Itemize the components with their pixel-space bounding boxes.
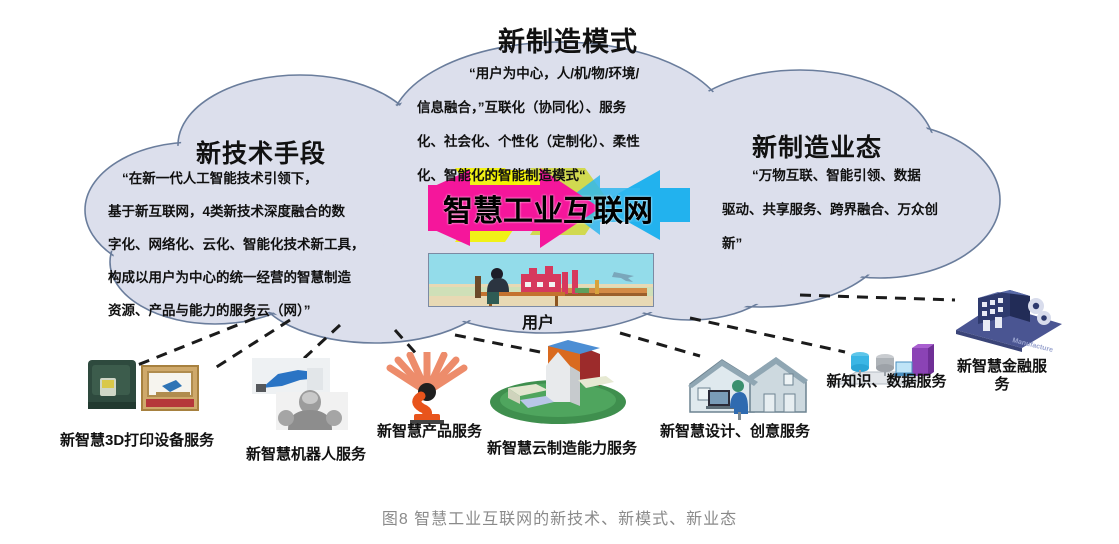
cloud-line: 基于新互联网，4类新技术深度融合的数 [108, 198, 424, 225]
cloud-line: 资源、产品与能力的服务云（网）” [108, 297, 424, 324]
cloud-body-new-manufacturing-mode: “用户为中心，人/机/物/环境/ 信息融合，”互联化（协同化）、服务 化、社会化… [417, 60, 717, 196]
figure-canvas: 新技术手段 “在新一代人工智能技术引领下， 基于新互联网，4类新技术深度融合的数… [0, 0, 1119, 544]
printer-3d-icon [84, 352, 204, 418]
cloud-line: “用户为中心，人/机/物/环境/ [417, 60, 717, 88]
cloud-line: 化、社会化、个性化（定制化）、柔性 [417, 128, 717, 156]
center-user-label: 用户 [522, 309, 554, 333]
center-banner-label: 智慧工业互联网 [443, 186, 653, 230]
cloud-factory-icon [488, 340, 628, 426]
figure-caption: 图8 智慧工业互联网的新技术、新模式、新业态 [0, 505, 1119, 529]
cloud-body-new-manufacturing-industry: “万物互联、智能引领、数据 驱动、共享服务、跨界融合、万众创 新” [722, 162, 1012, 264]
cloud-line: 字化、网络化、云化、智能化技术新工具， [108, 231, 424, 258]
cloud-line: 信息融合，”互联化（协同化）、服务 [417, 94, 717, 122]
cloud-line: 构成以用户为中心的统一经营的智慧制造 [108, 264, 424, 291]
house-workstation-icon [688, 350, 810, 422]
user-factory-illustration [428, 253, 654, 307]
node-label-cloudmfg: 新智慧云制造能力服务 [487, 440, 637, 458]
cloud-line: 新” [722, 230, 1012, 258]
cloud-line: “在新一代人工智能技术引领下， [108, 165, 424, 192]
cloud-body-new-technology: “在新一代人工智能技术引领下， 基于新互联网，4类新技术深度融合的数 字化、网络… [108, 165, 424, 330]
node-label-knowledge-text: 新知识、数据服务 [826, 373, 946, 390]
node-label-robot: 新智慧机器人服务 [246, 446, 366, 464]
node-label-knowledge: 新知识、数据服务 [824, 373, 949, 391]
cloud-line: 驱动、共享服务、跨界融合、万众创 [722, 196, 1012, 224]
cloud-line: “万物互联、智能引领、数据 [722, 162, 1012, 190]
manufacture-building-icon: Manufacture [952, 286, 1066, 352]
node-label-product: 新智慧产品服务 [377, 423, 482, 441]
node-label-finance: 新智慧金融服务 [952, 358, 1052, 393]
robot-arm-fan-icon [374, 352, 480, 424]
node-label-design: 新智慧设计、创意服务 [660, 423, 810, 441]
node-label-finance-text: 新智慧金融服务 [957, 358, 1047, 393]
cloud-title-new-manufacturing-industry: 新制造业态 [752, 128, 882, 164]
robot-icon [252, 358, 362, 430]
node-label-print3d: 新智慧3D打印设备服务 [60, 432, 214, 450]
cloud-title-new-manufacturing-mode: 新制造模式 [498, 20, 638, 59]
